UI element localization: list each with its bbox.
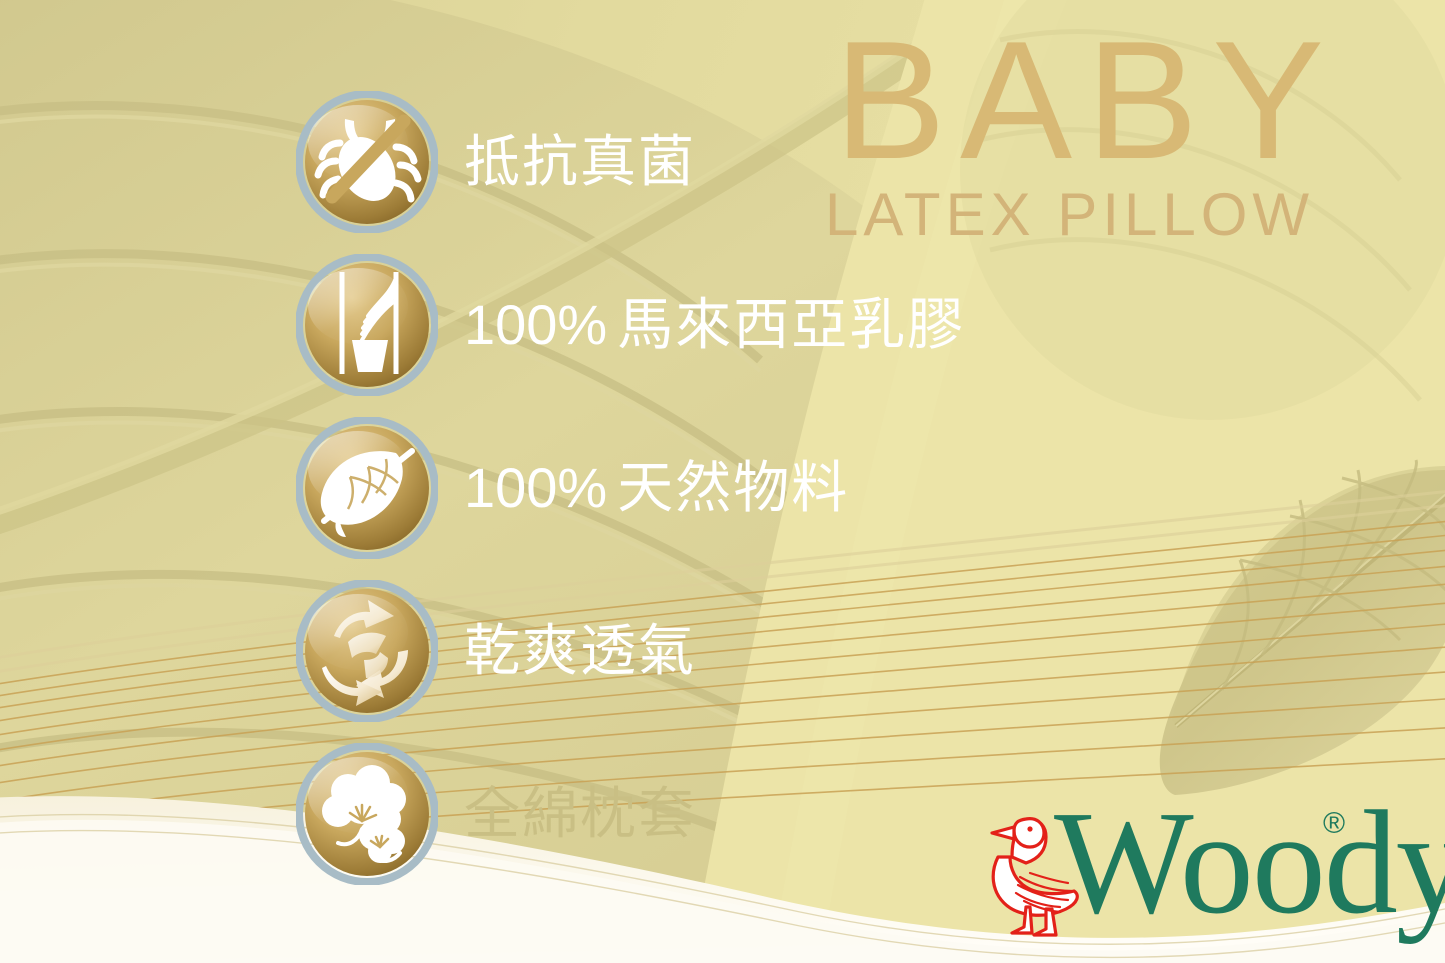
latex-tapping-cup-icon	[296, 254, 438, 396]
feature-label: 100%馬來西亞乳膠	[464, 297, 965, 353]
feature-row: 100%馬來西亞乳膠	[296, 243, 1056, 406]
feature-row: 抵抗真菌	[296, 80, 1056, 243]
feature-prefix: 100%	[464, 456, 617, 519]
feature-list: 抵抗真菌	[296, 80, 1056, 895]
feature-text: 天然物料	[617, 456, 849, 519]
feature-prefix: 100%	[464, 293, 617, 356]
feature-label: 抵抗真菌	[464, 134, 696, 190]
feature-label: 全綿枕套	[464, 786, 696, 842]
brand-logo: Woody ®	[968, 795, 1388, 955]
leaf-icon	[296, 417, 438, 559]
circular-arrows-icon	[296, 580, 438, 722]
feature-text: 馬來西亞乳膠	[617, 293, 965, 356]
feature-label: 100%天然物料	[464, 460, 849, 516]
feature-row: 全綿枕套	[296, 732, 1056, 895]
logo-wordmark: Woody	[1054, 789, 1445, 937]
feature-label: 乾爽透氣	[464, 623, 696, 679]
feature-row: 100%天然物料	[296, 406, 1056, 569]
feature-row: 乾爽透氣	[296, 569, 1056, 732]
cotton-boll-icon	[296, 743, 438, 885]
poster-canvas: BABY LATEX PILLOW	[0, 0, 1445, 963]
bug-crossed-out-icon	[296, 91, 438, 233]
registered-trademark-icon: ®	[1323, 807, 1345, 841]
